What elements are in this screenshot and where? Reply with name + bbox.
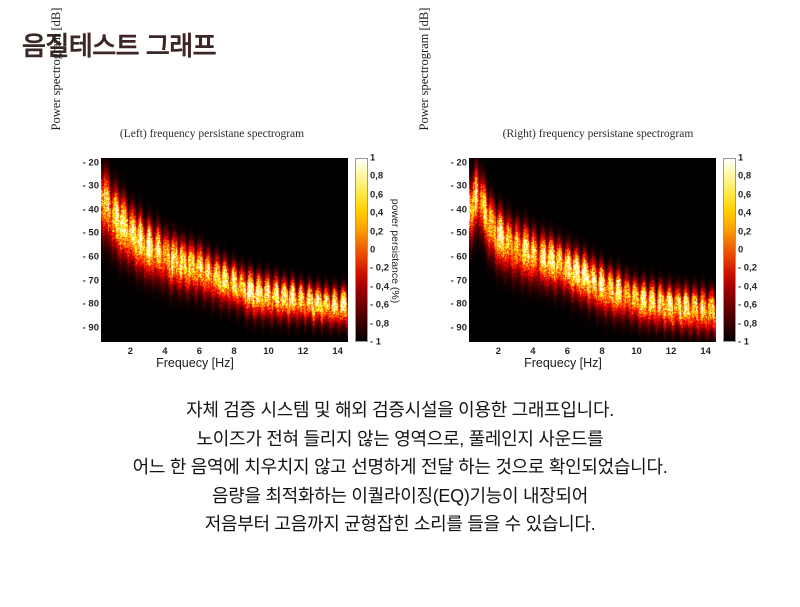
y-axis-label-right: Power spectrogram [dB] [417, 0, 431, 162]
colorbar-tick-label: 1 [370, 153, 375, 164]
y-tick-label: - 80 [440, 299, 467, 310]
colorbar-tick-label: 0,4 [370, 208, 383, 219]
colorbar-tick-label: 1 [738, 153, 743, 164]
y-tick-label: - 20 [440, 157, 467, 168]
y-tick-label: - 40 [72, 204, 99, 215]
y-tick-label: - 50 [440, 228, 467, 239]
colorbar-tick-label: - 0,4 [370, 281, 389, 292]
colorbar-tick-label: 0 [738, 245, 743, 256]
y-tick-label: - 50 [72, 228, 99, 239]
caption-block: 자체 검증 시스템 및 해외 검증시설을 이용한 그래프입니다.노이즈가 전혀 … [0, 396, 800, 539]
colorbar-tick-label: - 0,2 [738, 263, 757, 274]
y-tick-label: - 90 [440, 322, 467, 333]
caption-line: 저음부터 고음까지 균형잡힌 소리를 들을 수 있습니다. [0, 510, 800, 539]
colorbar-tick-label: 0,2 [738, 226, 751, 237]
caption-line: 어느 한 음역에 치우치지 않고 선명하게 전달 하는 것으로 확인되었습니다. [0, 453, 800, 482]
y-tick-label: - 40 [440, 204, 467, 215]
x-tick-label: 14 [332, 346, 343, 357]
spectrogram-canvas-right [469, 158, 716, 342]
colorbar-tick-label: - 1 [738, 337, 749, 348]
y-tick-label: - 60 [72, 252, 99, 263]
colorbar-tick-label: - 0,8 [370, 318, 389, 329]
y-tick-label: - 70 [440, 275, 467, 286]
caption-line: 음량을 최적화하는 이퀄라이징(EQ)기능이 내장되어 [0, 482, 800, 511]
caption-line: 자체 검증 시스템 및 해외 검증시설을 이용한 그래프입니다. [0, 396, 800, 425]
colorbar-tick-label: - 1 [370, 337, 381, 348]
colorbar-tick-label: - 0,6 [738, 300, 757, 311]
colorbar-tick-label: - 0,8 [738, 318, 757, 329]
y-tick-label: - 80 [72, 299, 99, 310]
colorbar-tick-label: - 0,6 [370, 300, 389, 311]
y-tick-label: - 20 [72, 157, 99, 168]
figure-left-spectrogram: (Left) frequency persistane spectrogram … [30, 128, 410, 386]
x-tick-label: 14 [700, 346, 711, 357]
y-axis-ticks-left: - 20- 30- 40- 50- 60- 70- 80- 90 [72, 158, 99, 342]
colorbar-tick-label: 0,8 [370, 171, 383, 182]
colorbar-tick-label: 0 [370, 245, 375, 256]
colorbar-tick-label: - 0,2 [370, 263, 389, 274]
colorbar-tick-label: - 0,4 [738, 281, 757, 292]
x-axis-label-left: Frequecy [Hz] [70, 356, 320, 370]
colorbar-tick-label: 0,6 [370, 189, 383, 200]
charts-container: (Left) frequency persistane spectrogram … [0, 128, 800, 386]
colorbar-label-right [756, 158, 770, 344]
chart-title-left: (Left) frequency persistane spectrogram [22, 128, 402, 140]
spectrogram-plot-left [101, 158, 348, 342]
colorbar-tick-label: 0,2 [370, 226, 383, 237]
y-axis-ticks-right: - 20- 30- 40- 50- 60- 70- 80- 90 [440, 158, 467, 342]
y-tick-label: - 30 [440, 181, 467, 192]
x-axis-label-right: Frequecy [Hz] [438, 356, 688, 370]
spectrogram-canvas-left [101, 158, 348, 342]
colorbar-tick-label: 0,6 [738, 189, 751, 200]
y-tick-label: - 70 [72, 275, 99, 286]
chart-title-right: (Right) frequency persistane spectrogram [408, 128, 788, 140]
caption-line: 노이즈가 전혀 들리지 않는 영역으로, 풀레인지 사운드를 [0, 425, 800, 454]
y-axis-label-left: Power spectrogram [dB] [49, 0, 63, 162]
colorbar-right [723, 158, 736, 342]
colorbar-tick-label: 0,4 [738, 208, 751, 219]
y-tick-label: - 30 [72, 181, 99, 192]
figure-right-spectrogram: (Right) frequency persistane spectrogram… [398, 128, 778, 386]
colorbar-left [355, 158, 368, 342]
y-tick-label: - 60 [440, 252, 467, 263]
spectrogram-plot-right [469, 158, 716, 342]
y-tick-label: - 90 [72, 322, 99, 333]
colorbar-tick-label: 0,8 [738, 171, 751, 182]
